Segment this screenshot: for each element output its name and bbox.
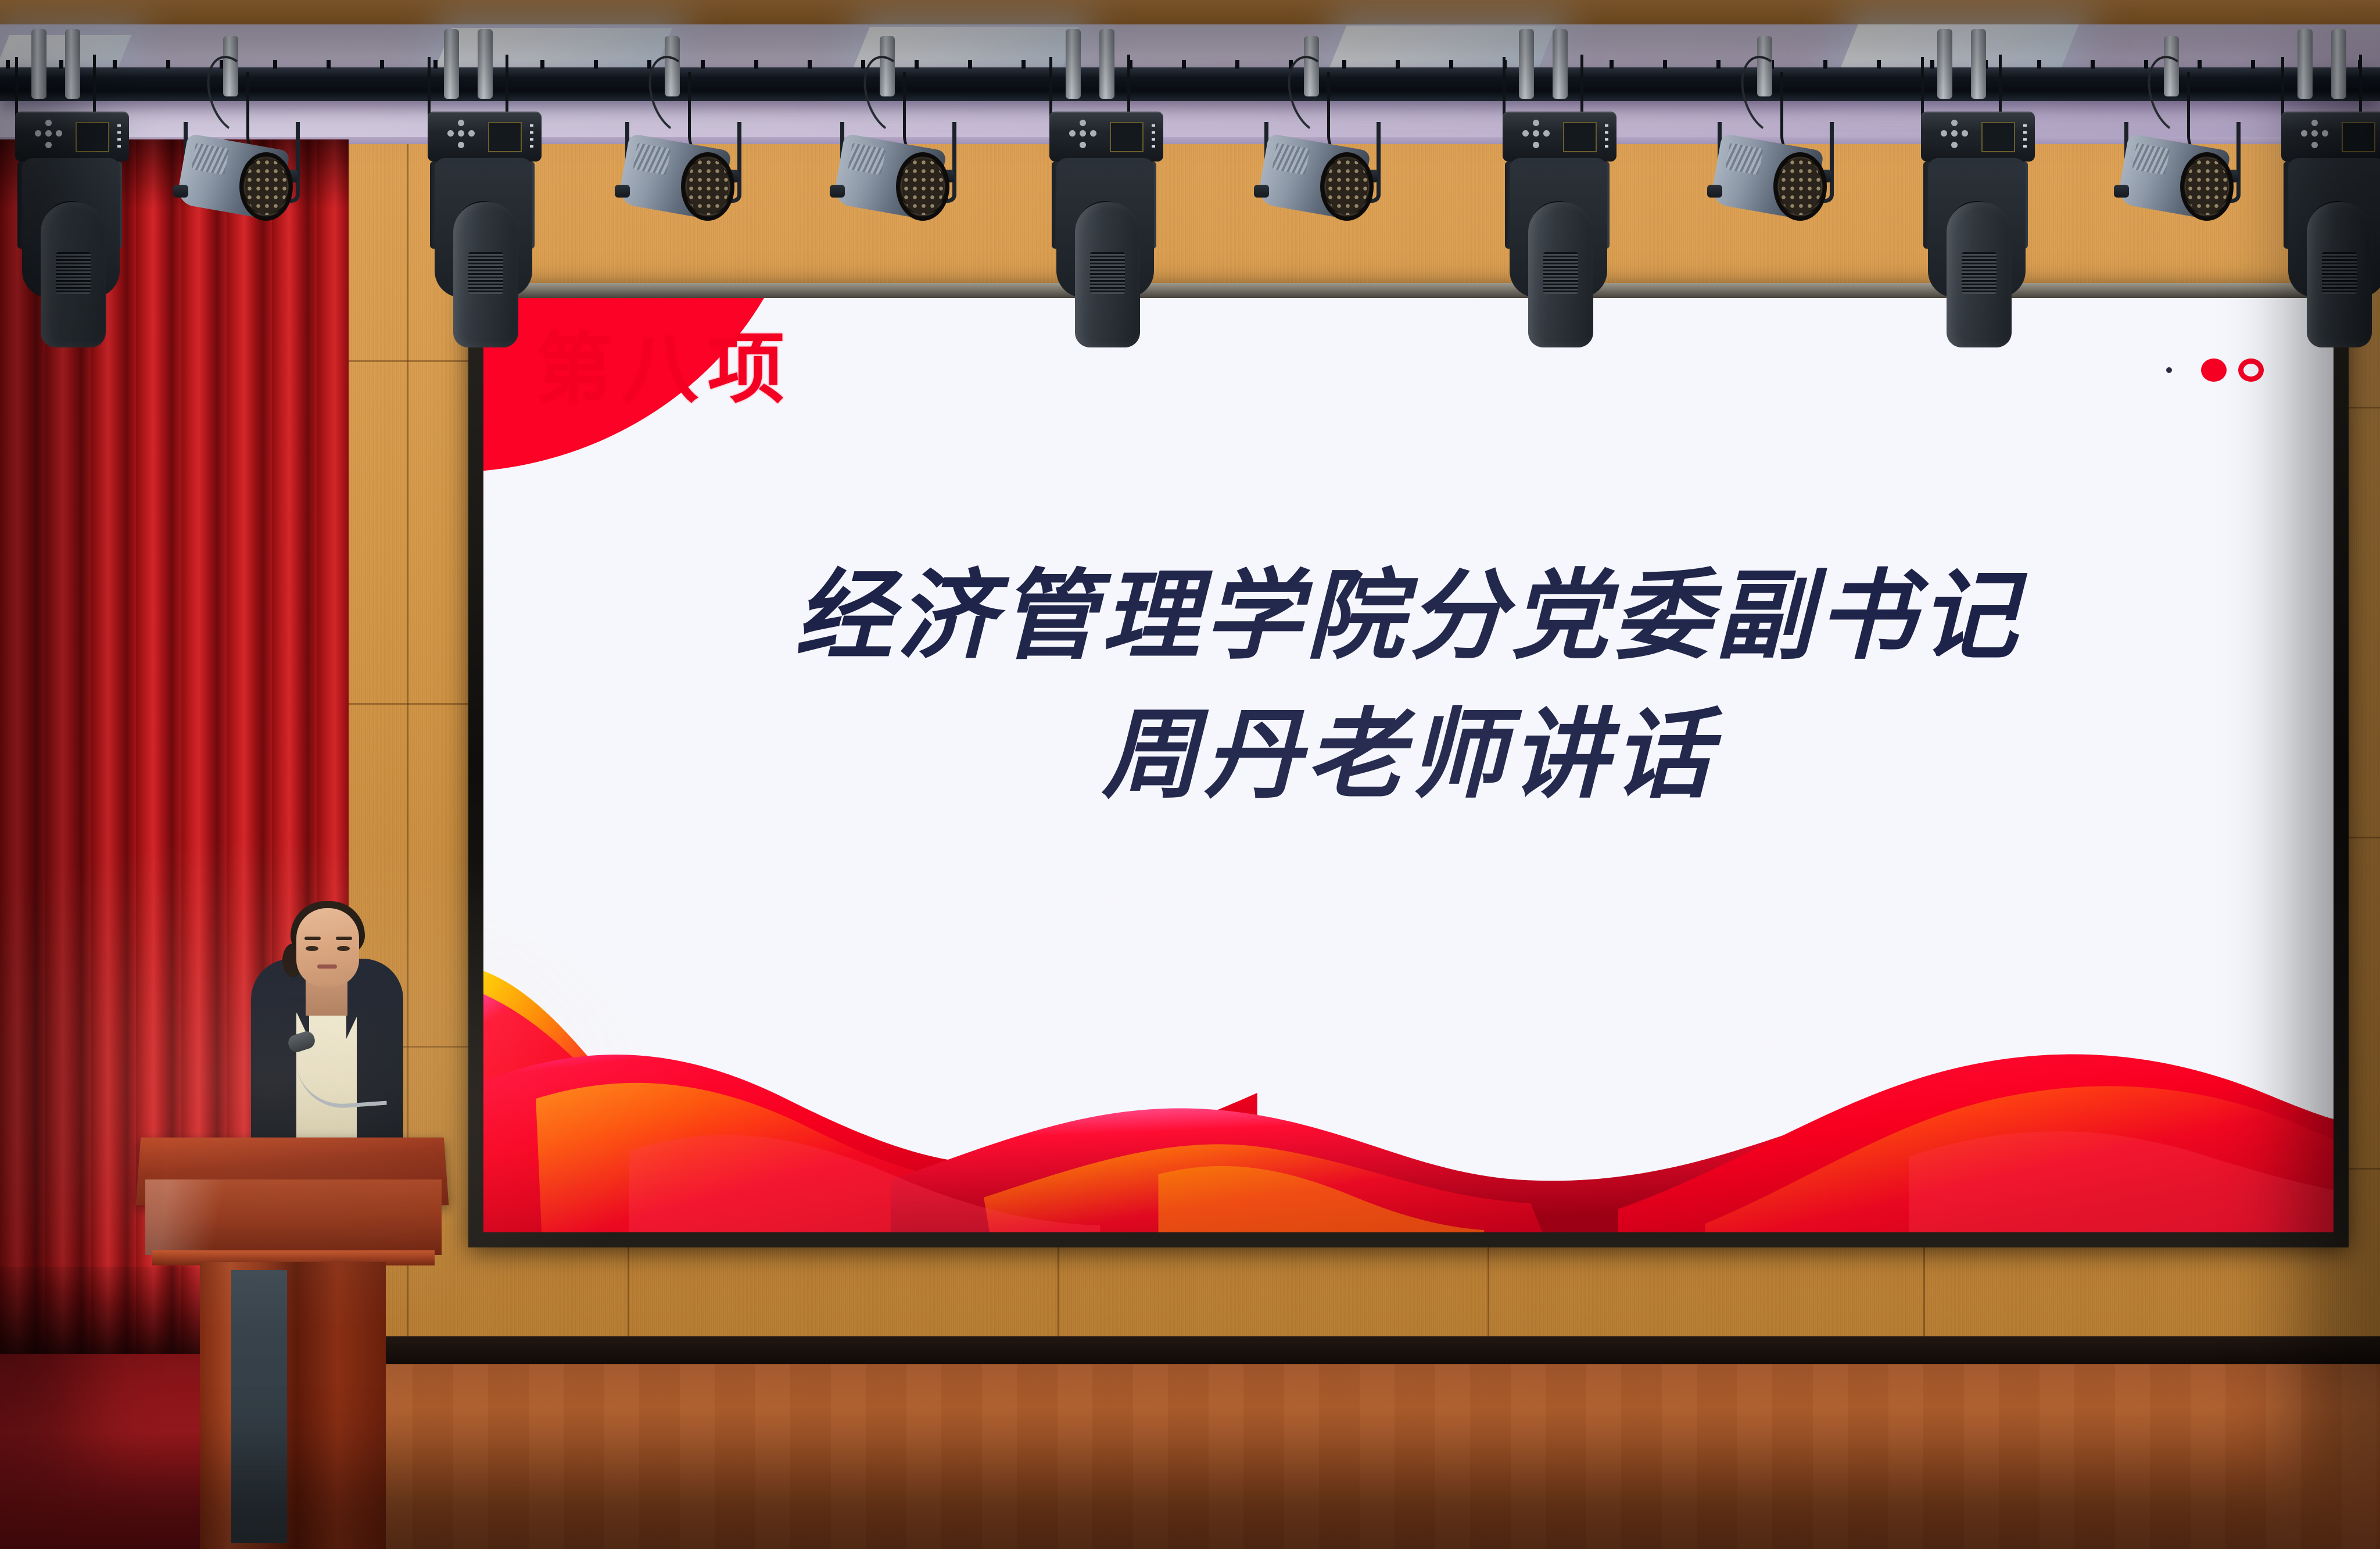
par-vents bbox=[191, 143, 229, 175]
moving-head-barrel bbox=[1528, 202, 1593, 347]
light-clamp bbox=[65, 29, 80, 99]
par-vents bbox=[1272, 143, 1310, 175]
moving-head-buttons[interactable] bbox=[447, 120, 479, 152]
truss-tab bbox=[166, 60, 170, 69]
led-screen-frame: 第八项 经济管理学院分党委副书记 周丹老师讲话 bbox=[468, 283, 2349, 1247]
par-can-light bbox=[2115, 66, 2249, 310]
hollow-dot-icon bbox=[2238, 358, 2264, 382]
moving-head-display bbox=[1110, 122, 1144, 152]
moving-head-status-leds bbox=[530, 124, 533, 148]
par-tilt-knob bbox=[2114, 185, 2129, 198]
moving-head-vent bbox=[56, 252, 91, 294]
auditorium-scene: 第八项 经济管理学院分党委副书记 周丹老师讲话 bbox=[0, 0, 2380, 1549]
par-can-light bbox=[831, 66, 965, 310]
wood-panel-seam bbox=[628, 1243, 629, 1341]
moving-head-vent bbox=[1090, 252, 1125, 294]
light-clamp bbox=[1099, 29, 1114, 99]
slide-decorative-dots bbox=[2166, 358, 2264, 382]
moving-head-vent bbox=[1543, 252, 1578, 294]
truss-tab bbox=[6, 60, 10, 69]
par-tilt-knob bbox=[173, 185, 188, 198]
moving-head-display bbox=[1981, 122, 2015, 152]
moving-head-barrel bbox=[41, 202, 106, 347]
red-silk-ribbon-icon bbox=[483, 907, 2334, 1232]
wood-panel-seam bbox=[1487, 1243, 1489, 1341]
par-can-light bbox=[174, 66, 308, 310]
moving-head-light bbox=[1046, 63, 1180, 377]
truss-tab bbox=[380, 60, 384, 69]
par-tilt-knob bbox=[1707, 185, 1722, 198]
moving-head-vent bbox=[1962, 252, 1997, 294]
par-can-light bbox=[616, 66, 750, 310]
moving-head-status-leds bbox=[1152, 124, 1155, 148]
moving-head-barrel bbox=[1947, 202, 2012, 347]
par-can-light bbox=[1708, 66, 1842, 310]
par-lens bbox=[1320, 152, 1374, 221]
par-led-array bbox=[1326, 158, 1368, 215]
truss-tab bbox=[1877, 60, 1881, 69]
moving-head-status-leds bbox=[1605, 124, 1608, 148]
moving-head-display bbox=[488, 122, 522, 152]
light-clamp bbox=[1553, 29, 1568, 99]
truss-tab bbox=[1396, 60, 1400, 69]
moving-head-light bbox=[1499, 63, 1633, 377]
moving-head-display bbox=[2342, 122, 2375, 152]
speaker-eye-left bbox=[306, 946, 318, 951]
moving-head-buttons[interactable] bbox=[1069, 120, 1101, 152]
moving-head-light bbox=[12, 63, 145, 377]
slide-body-line-1: 经济管理学院分党委副书记 bbox=[483, 548, 2334, 687]
speaker-mouth bbox=[317, 964, 337, 969]
par-vents bbox=[633, 143, 671, 175]
moving-head-light bbox=[2278, 63, 2380, 377]
truss-tab bbox=[2251, 60, 2255, 69]
filled-dot-icon bbox=[2201, 358, 2227, 382]
truss-tab bbox=[594, 60, 598, 69]
par-led-array bbox=[245, 158, 287, 215]
par-lens bbox=[2180, 152, 2234, 221]
moving-head-base bbox=[15, 112, 129, 162]
moving-head-buttons[interactable] bbox=[1941, 120, 1972, 152]
truss-tab bbox=[1182, 60, 1186, 69]
truss-tab bbox=[754, 60, 758, 69]
par-tilt-knob bbox=[1254, 185, 1269, 198]
moving-head-base bbox=[1049, 112, 1163, 162]
moving-head-display bbox=[1563, 122, 1597, 152]
truss-tab bbox=[1663, 60, 1667, 69]
led-screen-display[interactable]: 第八项 经济管理学院分党委副书记 周丹老师讲话 bbox=[483, 298, 2334, 1232]
par-led-array bbox=[2186, 158, 2228, 215]
moving-head-light bbox=[1917, 63, 2051, 377]
par-lens bbox=[239, 152, 293, 221]
moving-head-base bbox=[2281, 112, 2380, 162]
moving-head-base bbox=[1503, 112, 1616, 162]
moving-head-base bbox=[1921, 112, 2035, 162]
speaker-lapel-right bbox=[346, 997, 366, 1039]
truss-tab bbox=[808, 60, 812, 69]
light-clamp bbox=[2331, 29, 2346, 99]
slide-body-text: 经济管理学院分党委副书记 周丹老师讲话 bbox=[483, 548, 2334, 825]
moving-head-display bbox=[76, 122, 109, 152]
moving-head-buttons[interactable] bbox=[35, 120, 66, 152]
moving-head-vent bbox=[2322, 252, 2357, 294]
par-led-array bbox=[1779, 158, 1821, 215]
speaker-eye-right bbox=[337, 946, 350, 951]
speaker-eyebrow-right bbox=[336, 937, 352, 940]
truss-tab bbox=[1021, 60, 1026, 69]
slide-section-label: 第八项 bbox=[536, 332, 794, 408]
moving-head-buttons[interactable] bbox=[2301, 120, 2332, 152]
light-clamp bbox=[1971, 29, 1986, 99]
par-led-array bbox=[687, 158, 729, 215]
moving-head-vent bbox=[468, 252, 503, 294]
truss-tab bbox=[1449, 60, 1453, 69]
par-tilt-knob bbox=[615, 185, 630, 198]
podium-column bbox=[200, 1262, 386, 1549]
tiny-dot-icon bbox=[2166, 367, 2172, 373]
par-can-light bbox=[1255, 66, 1389, 310]
par-led-array bbox=[902, 158, 944, 215]
truss-tab bbox=[2091, 60, 2095, 69]
par-vents bbox=[848, 143, 886, 175]
truss-tab bbox=[1235, 60, 1239, 69]
moving-head-barrel bbox=[2307, 202, 2372, 347]
moving-head-status-leds bbox=[2023, 124, 2027, 148]
par-tilt-knob bbox=[830, 185, 845, 198]
wall-baseboard bbox=[360, 1336, 2380, 1364]
moving-head-barrel bbox=[1075, 202, 1140, 347]
speaker-eyebrow-left bbox=[304, 937, 321, 940]
par-vents bbox=[1725, 143, 1763, 175]
moving-head-light bbox=[424, 63, 558, 377]
moving-head-status-leds bbox=[117, 124, 121, 148]
wood-panel-seam bbox=[1923, 1243, 1925, 1341]
podium-front-face bbox=[145, 1179, 442, 1255]
truss-tab bbox=[327, 60, 331, 69]
par-vents bbox=[2132, 143, 2170, 175]
moving-head-barrel bbox=[453, 202, 518, 347]
moving-head-base bbox=[428, 112, 542, 162]
truss-tab bbox=[968, 60, 972, 69]
par-lens bbox=[896, 152, 949, 221]
par-lens bbox=[681, 152, 734, 221]
slide-body-line-2: 周丹老师讲话 bbox=[483, 687, 2334, 826]
par-lens bbox=[1773, 152, 1827, 221]
slide-ribbon-graphic bbox=[483, 907, 2334, 1232]
light-clamp bbox=[478, 29, 493, 99]
wood-panel-seam bbox=[1058, 1243, 1059, 1341]
moving-head-buttons[interactable] bbox=[1522, 120, 1554, 152]
podium-column-panel bbox=[231, 1270, 287, 1543]
